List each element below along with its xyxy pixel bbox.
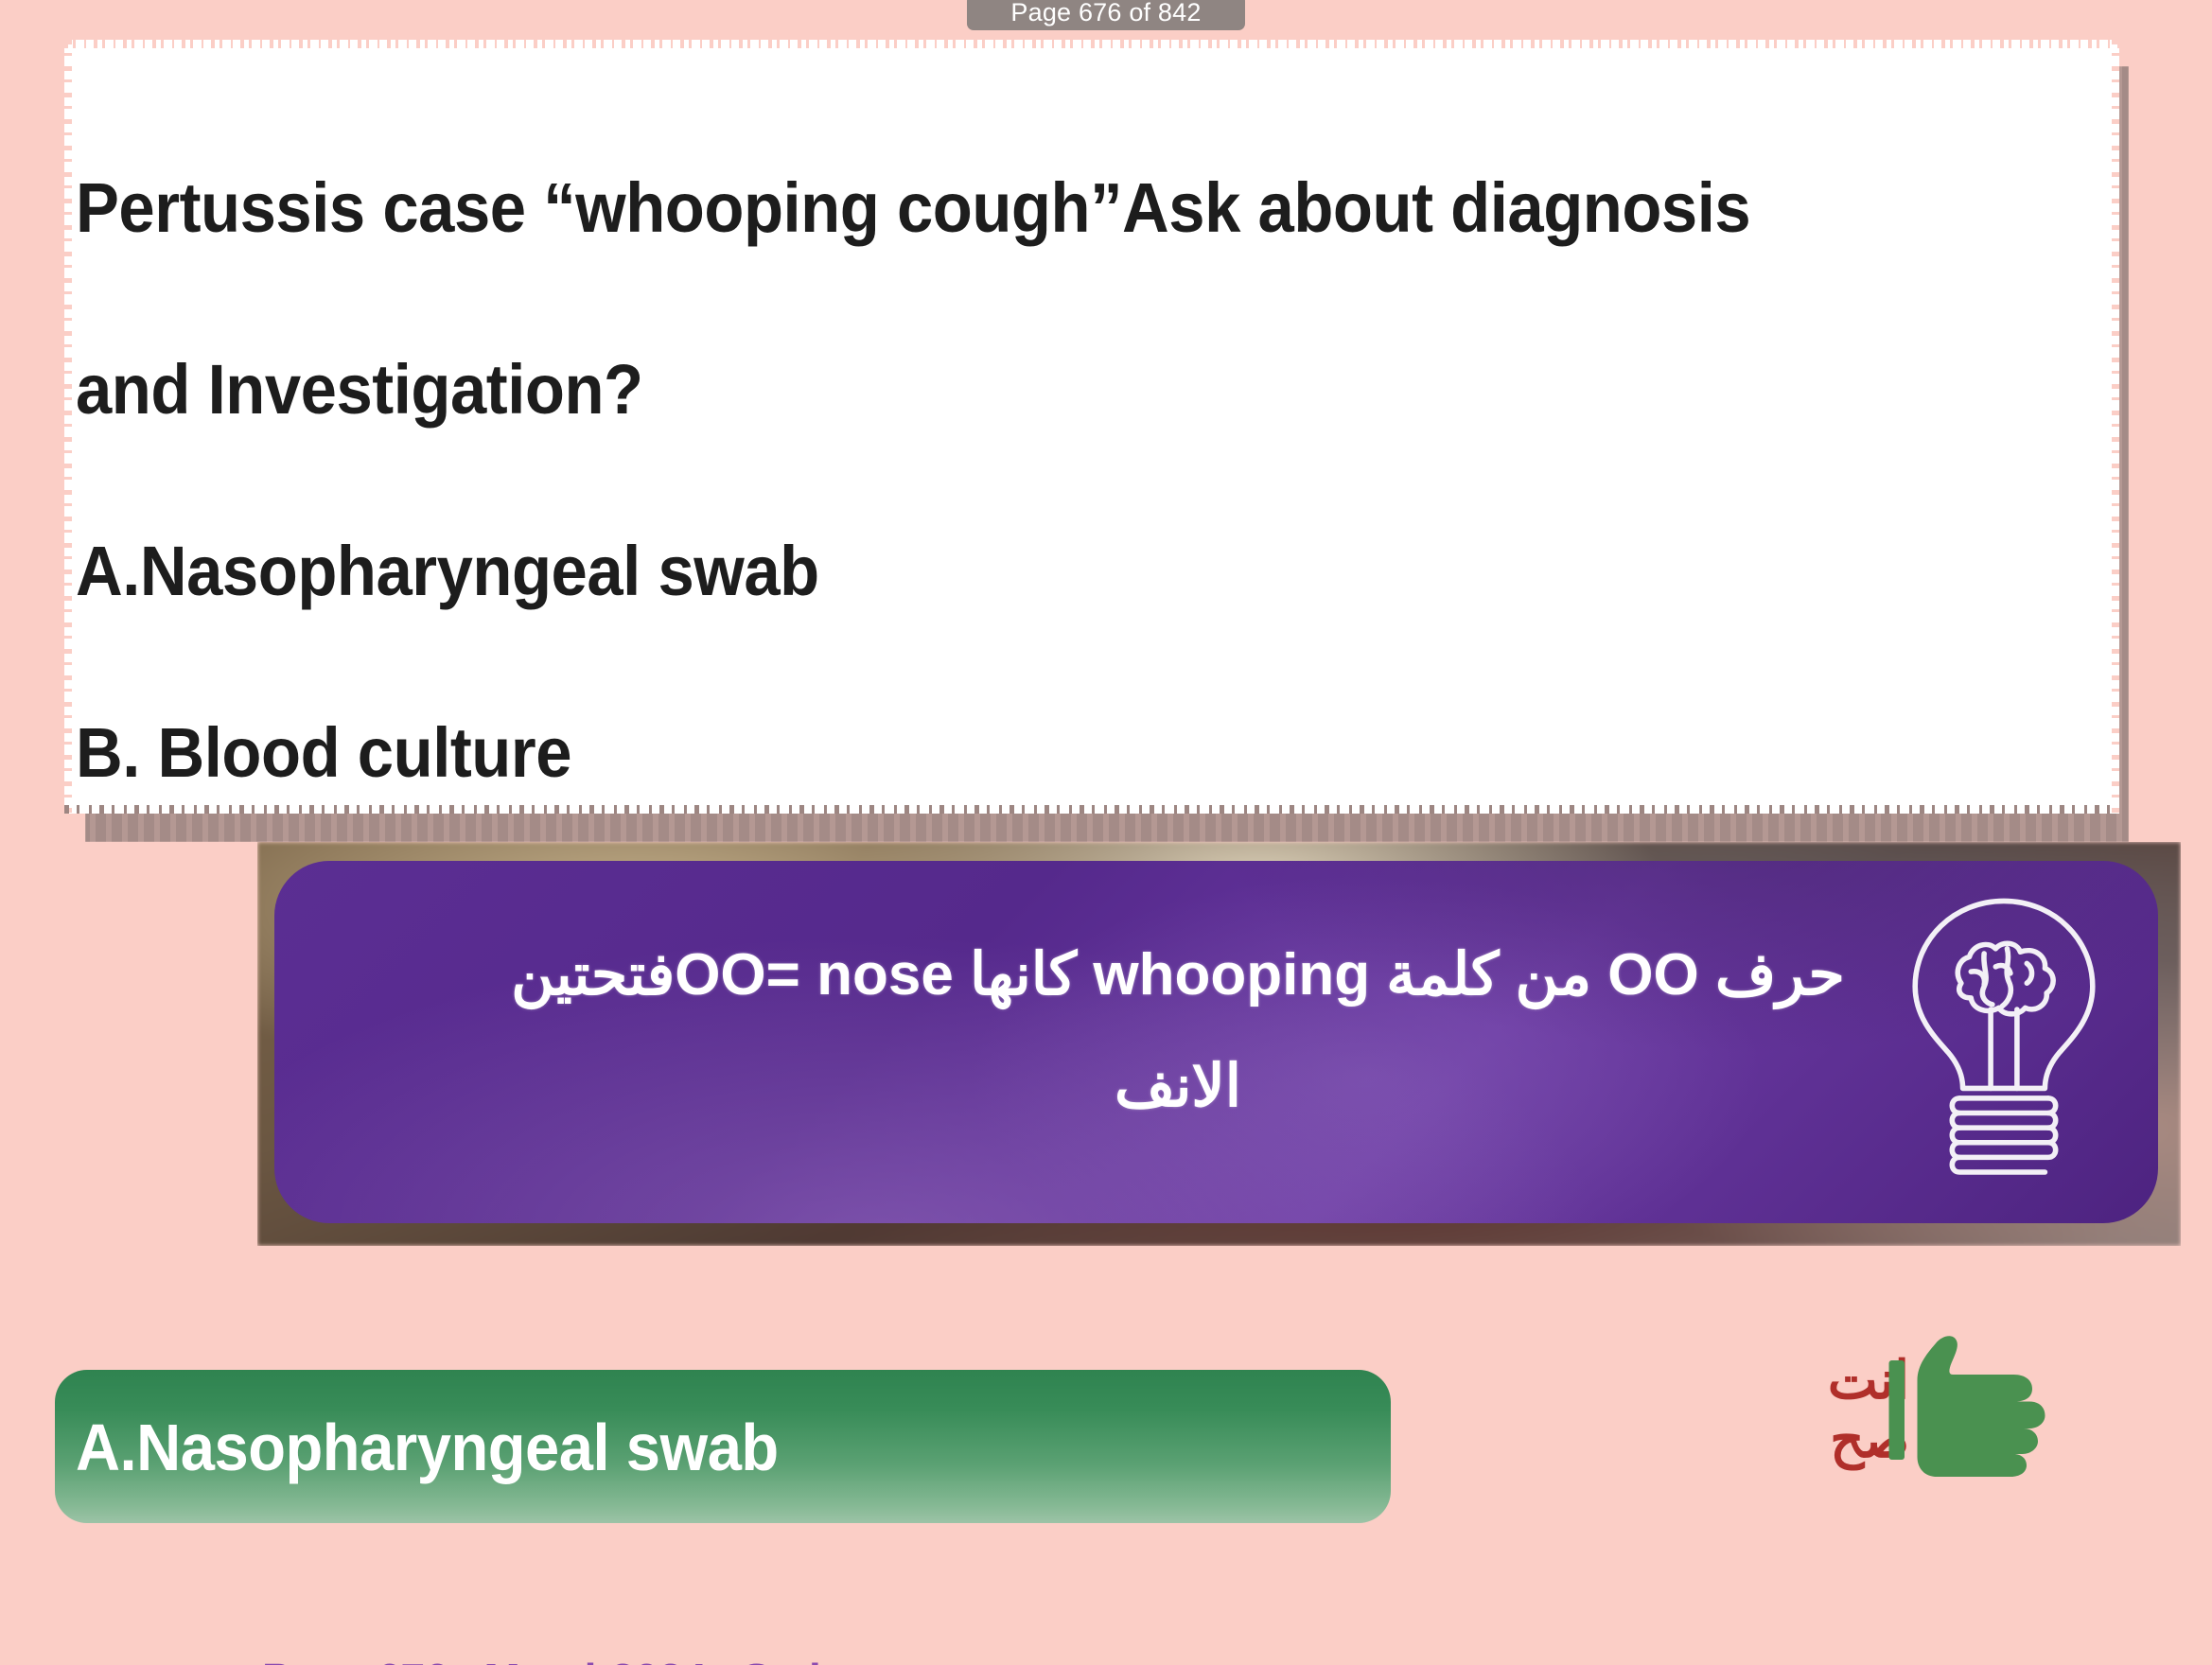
correct-answer-label: A.Nasopharyngeal swab [76, 1411, 779, 1483]
question-stem-line-1: Pertussis case “whooping cough”Ask about… [76, 163, 1932, 254]
footer-page: Page 676 [262, 1655, 448, 1665]
footer: Page 676 March2024 Smlesecrets.net [238, 1603, 1071, 1665]
option-b: B. Blood culture [76, 708, 1932, 798]
option-a: A.Nasopharyngeal swab [76, 526, 1932, 617]
mnemonic-banner: حرف OO من كلمة whooping كانها OO= noseفت… [274, 861, 2158, 1223]
badge-arabic-line-2: صح [1762, 1410, 1909, 1468]
torn-edge-top [64, 40, 2119, 48]
mnemonic-text: حرف OO من كلمة whooping كانها OO= noseفت… [388, 920, 1968, 1143]
badge-arabic-text: انت صح [1762, 1351, 1909, 1468]
page-indicator: Page 676 of 842 [967, 0, 1245, 30]
footer-gap-2 [707, 1655, 742, 1665]
question-text-block: Pertussis case “whooping cough”Ask about… [76, 72, 1932, 889]
question-stem-line-2: and Investigation? [76, 344, 1932, 435]
thumbs-up-icon [1888, 1326, 2045, 1497]
torn-edge-left [64, 40, 72, 814]
correct-answer-bar: A.Nasopharyngeal swab [55, 1370, 1391, 1523]
footer-site: Smlesecrets.net [742, 1655, 1071, 1665]
lightbulb-brain-icon [1886, 891, 2122, 1203]
torn-edge-right [2112, 40, 2119, 814]
question-card: Pertussis case “whooping cough”Ask about… [64, 40, 2119, 814]
question-card-container: Pertussis case “whooping cough”Ask about… [64, 40, 2119, 815]
footer-date: March2024 [484, 1655, 707, 1665]
mnemonic-strip: حرف OO من كلمة whooping كانها OO= noseفت… [257, 842, 2181, 1246]
badge-arabic-line-1: انت [1762, 1351, 1909, 1410]
mnemonic-line-2: الانف [388, 1031, 1968, 1143]
mnemonic-line-1: حرف OO من كلمة whooping كانها OO= noseفت… [511, 942, 1845, 1008]
footer-gap-1 [448, 1655, 483, 1665]
correct-badge: انت صح [1762, 1326, 2045, 1516]
